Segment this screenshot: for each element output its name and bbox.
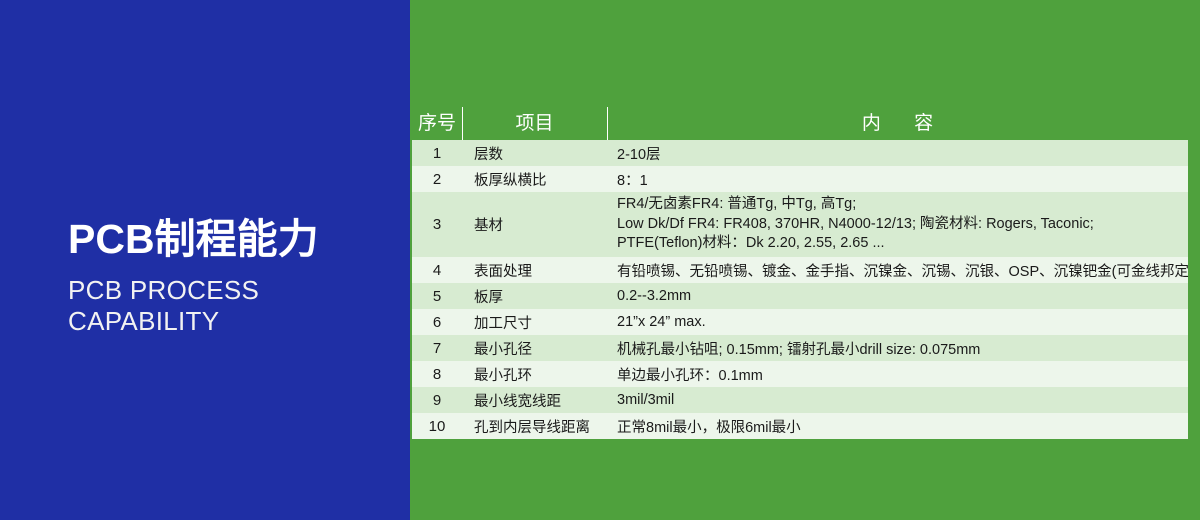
cell-content-line: FR4/无卤素FR4: 普通Tg, 中Tg, 高Tg; xyxy=(617,195,1188,215)
cell-item: 最小线宽线距 xyxy=(462,387,607,413)
cell-item: 层数 xyxy=(462,140,607,166)
cell-content: 0.2--3.2mm xyxy=(607,283,1188,309)
cell-content-line: 8：1 xyxy=(617,169,1188,190)
title-block: PCB制程能力 PCB PROCESS CAPABILITY xyxy=(68,218,398,336)
cell-item: 最小孔径 xyxy=(462,335,607,361)
cell-item: 孔到内层导线距离 xyxy=(462,413,607,439)
cell-no: 4 xyxy=(412,257,462,283)
cell-content-line: 正常8mil最小，极限6mil最小 xyxy=(617,416,1188,437)
table-row: 4表面处理有铅喷锡、无铅喷锡、镀金、金手指、沉镍金、沉锡、沉银、OSP、沉镍钯金… xyxy=(412,257,1188,283)
page-title-cn: PCB制程能力 xyxy=(68,218,398,261)
table-row: 10孔到内层导线距离正常8mil最小，极限6mil最小 xyxy=(412,413,1188,439)
cell-no: 7 xyxy=(412,335,462,361)
page-title-en: PCB PROCESS CAPABILITY xyxy=(68,275,398,336)
table-row: 2板厚纵横比8：1 xyxy=(412,166,1188,192)
table-row: 9最小线宽线距3mil/3mil xyxy=(412,387,1188,413)
cell-content-line: 单边最小孔环：0.1mm xyxy=(617,364,1188,385)
cell-content: FR4/无卤素FR4: 普通Tg, 中Tg, 高Tg;Low Dk/Df FR4… xyxy=(607,192,1188,257)
header-label-no: 序号 xyxy=(412,107,462,140)
cell-item: 加工尺寸 xyxy=(462,309,607,335)
cell-item: 表面处理 xyxy=(462,257,607,283)
cell-no: 2 xyxy=(412,166,462,192)
header-cell-no: 序号 xyxy=(412,107,462,140)
header-row: 序号 项目 内 容 xyxy=(412,107,1188,140)
cell-content-line: 2-10层 xyxy=(617,143,1188,164)
spec-table-wrapper: 序号 项目 内 容 1层数2-10层2板厚纵横比8：13基材FR4/无卤素FR4… xyxy=(412,107,1188,439)
page-title-en-line1: PCB PROCESS xyxy=(68,275,398,306)
cell-no: 9 xyxy=(412,387,462,413)
table-row: 7最小孔径机械孔最小钻咀; 0.15mm; 镭射孔最小drill size: 0… xyxy=(412,335,1188,361)
cell-content-line: 有铅喷锡、无铅喷锡、镀金、金手指、沉镍金、沉锡、沉银、OSP、沉镍钯金(可金线邦… xyxy=(617,260,1188,281)
cell-content-line: 3mil/3mil xyxy=(617,392,1188,408)
cell-content: 正常8mil最小，极限6mil最小 xyxy=(607,413,1188,439)
spec-table-body: 1层数2-10层2板厚纵横比8：13基材FR4/无卤素FR4: 普通Tg, 中T… xyxy=(412,140,1188,439)
cell-content-line: 0.2--3.2mm xyxy=(617,288,1188,304)
table-row: 6加工尺寸21”x 24” max. xyxy=(412,309,1188,335)
cell-no: 1 xyxy=(412,140,462,166)
cell-no: 8 xyxy=(412,361,462,387)
cell-no: 5 xyxy=(412,283,462,309)
cell-content: 21”x 24” max. xyxy=(607,309,1188,335)
cell-no: 6 xyxy=(412,309,462,335)
cell-content: 2-10层 xyxy=(607,140,1188,166)
table-row: 5板厚0.2--3.2mm xyxy=(412,283,1188,309)
cell-content-line: PTFE(Teflon)材料：Dk 2.20, 2.55, 2.65 ... xyxy=(617,234,1188,254)
cell-item: 板厚纵横比 xyxy=(462,166,607,192)
page-title-en-line2: CAPABILITY xyxy=(68,306,398,337)
cell-content: 有铅喷锡、无铅喷锡、镀金、金手指、沉镍金、沉锡、沉银、OSP、沉镍钯金(可金线邦… xyxy=(607,257,1188,283)
cell-no: 3 xyxy=(412,192,462,257)
cell-item: 最小孔环 xyxy=(462,361,607,387)
table-row: 3基材FR4/无卤素FR4: 普通Tg, 中Tg, 高Tg;Low Dk/Df … xyxy=(412,192,1188,257)
spec-table: 序号 项目 内 容 1层数2-10层2板厚纵横比8：13基材FR4/无卤素FR4… xyxy=(412,107,1188,439)
cell-content-line: Low Dk/Df FR4: FR408, 370HR, N4000-12/13… xyxy=(617,215,1188,235)
header-cell-content: 内 容 xyxy=(607,107,1188,140)
slide-root: PCB制程能力 PCB PROCESS CAPABILITY 序号 项目 xyxy=(0,0,1200,520)
table-row: 1层数2-10层 xyxy=(412,140,1188,166)
header-label-content: 内 容 xyxy=(607,107,1188,140)
header-cell-item: 项目 xyxy=(462,107,607,140)
table-row: 8最小孔环单边最小孔环：0.1mm xyxy=(412,361,1188,387)
cell-item: 基材 xyxy=(462,192,607,257)
cell-content: 3mil/3mil xyxy=(607,387,1188,413)
header-label-item: 项目 xyxy=(462,107,607,140)
spec-table-head: 序号 项目 内 容 xyxy=(412,107,1188,140)
cell-content: 单边最小孔环：0.1mm xyxy=(607,361,1188,387)
cell-content-line: 机械孔最小钻咀; 0.15mm; 镭射孔最小drill size: 0.075m… xyxy=(617,338,1188,359)
cell-content-line: 21”x 24” max. xyxy=(617,314,1188,330)
cell-content: 8：1 xyxy=(607,166,1188,192)
cell-item: 板厚 xyxy=(462,283,607,309)
cell-content: 机械孔最小钻咀; 0.15mm; 镭射孔最小drill size: 0.075m… xyxy=(607,335,1188,361)
cell-no: 10 xyxy=(412,413,462,439)
